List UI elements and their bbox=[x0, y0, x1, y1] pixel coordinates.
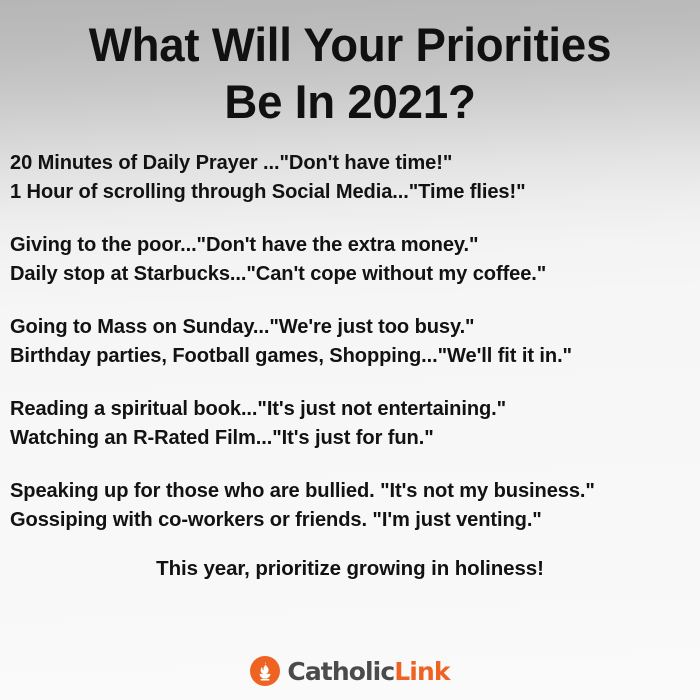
stanza-line: Watching an R-Rated Film..."It's just fo… bbox=[10, 423, 678, 452]
stanza-line: Daily stop at Starbucks..."Can't cope wi… bbox=[10, 259, 678, 288]
stanza-line: 1 Hour of scrolling through Social Media… bbox=[10, 177, 678, 206]
logo-word-link: Link bbox=[394, 657, 449, 686]
closing-message: This year, prioritize growing in holines… bbox=[0, 556, 700, 582]
closing-text: This year, prioritize growing in holines… bbox=[156, 557, 544, 580]
flame-chalice-icon bbox=[250, 656, 280, 686]
logo-word-catholic: Catholic bbox=[287, 657, 394, 686]
logo-wordmark: CatholicLink bbox=[287, 659, 449, 684]
stanza-line: Going to Mass on Sunday..."We're just to… bbox=[10, 312, 678, 341]
title-line-2: Be In 2021? bbox=[11, 73, 690, 130]
stanza-line: 20 Minutes of Daily Prayer ..."Don't hav… bbox=[10, 148, 678, 177]
stanza-line: Gossiping with co-workers or friends. "I… bbox=[10, 505, 678, 534]
stanza-line: Giving to the poor..."Don't have the ext… bbox=[10, 230, 678, 259]
stanza-speaking-up-vs-gossip: Speaking up for those who are bullied. "… bbox=[10, 476, 692, 534]
title-line-1: What Will Your Priorities bbox=[11, 16, 690, 73]
stanza-mass-vs-activities: Going to Mass on Sunday..."We're just to… bbox=[10, 312, 692, 370]
stanza-giving-vs-starbucks: Giving to the poor..."Don't have the ext… bbox=[10, 230, 692, 288]
catholic-link-logo: CatholicLink bbox=[0, 656, 700, 686]
stanza-prayer-vs-social-media: 20 Minutes of Daily Prayer ..."Don't hav… bbox=[10, 148, 692, 206]
stanza-line: Reading a spiritual book..."It's just no… bbox=[10, 394, 678, 423]
page-title: What Will Your Priorities Be In 2021? bbox=[0, 0, 700, 130]
stanza-line: Birthday parties, Football games, Shoppi… bbox=[10, 341, 678, 370]
stanza-book-vs-film: Reading a spiritual book..."It's just no… bbox=[10, 394, 692, 452]
stanza-line: Speaking up for those who are bullied. "… bbox=[10, 476, 678, 505]
priorities-list: 20 Minutes of Daily Prayer ..."Don't hav… bbox=[0, 148, 700, 534]
poster-canvas: What Will Your Priorities Be In 2021? 20… bbox=[0, 0, 700, 700]
